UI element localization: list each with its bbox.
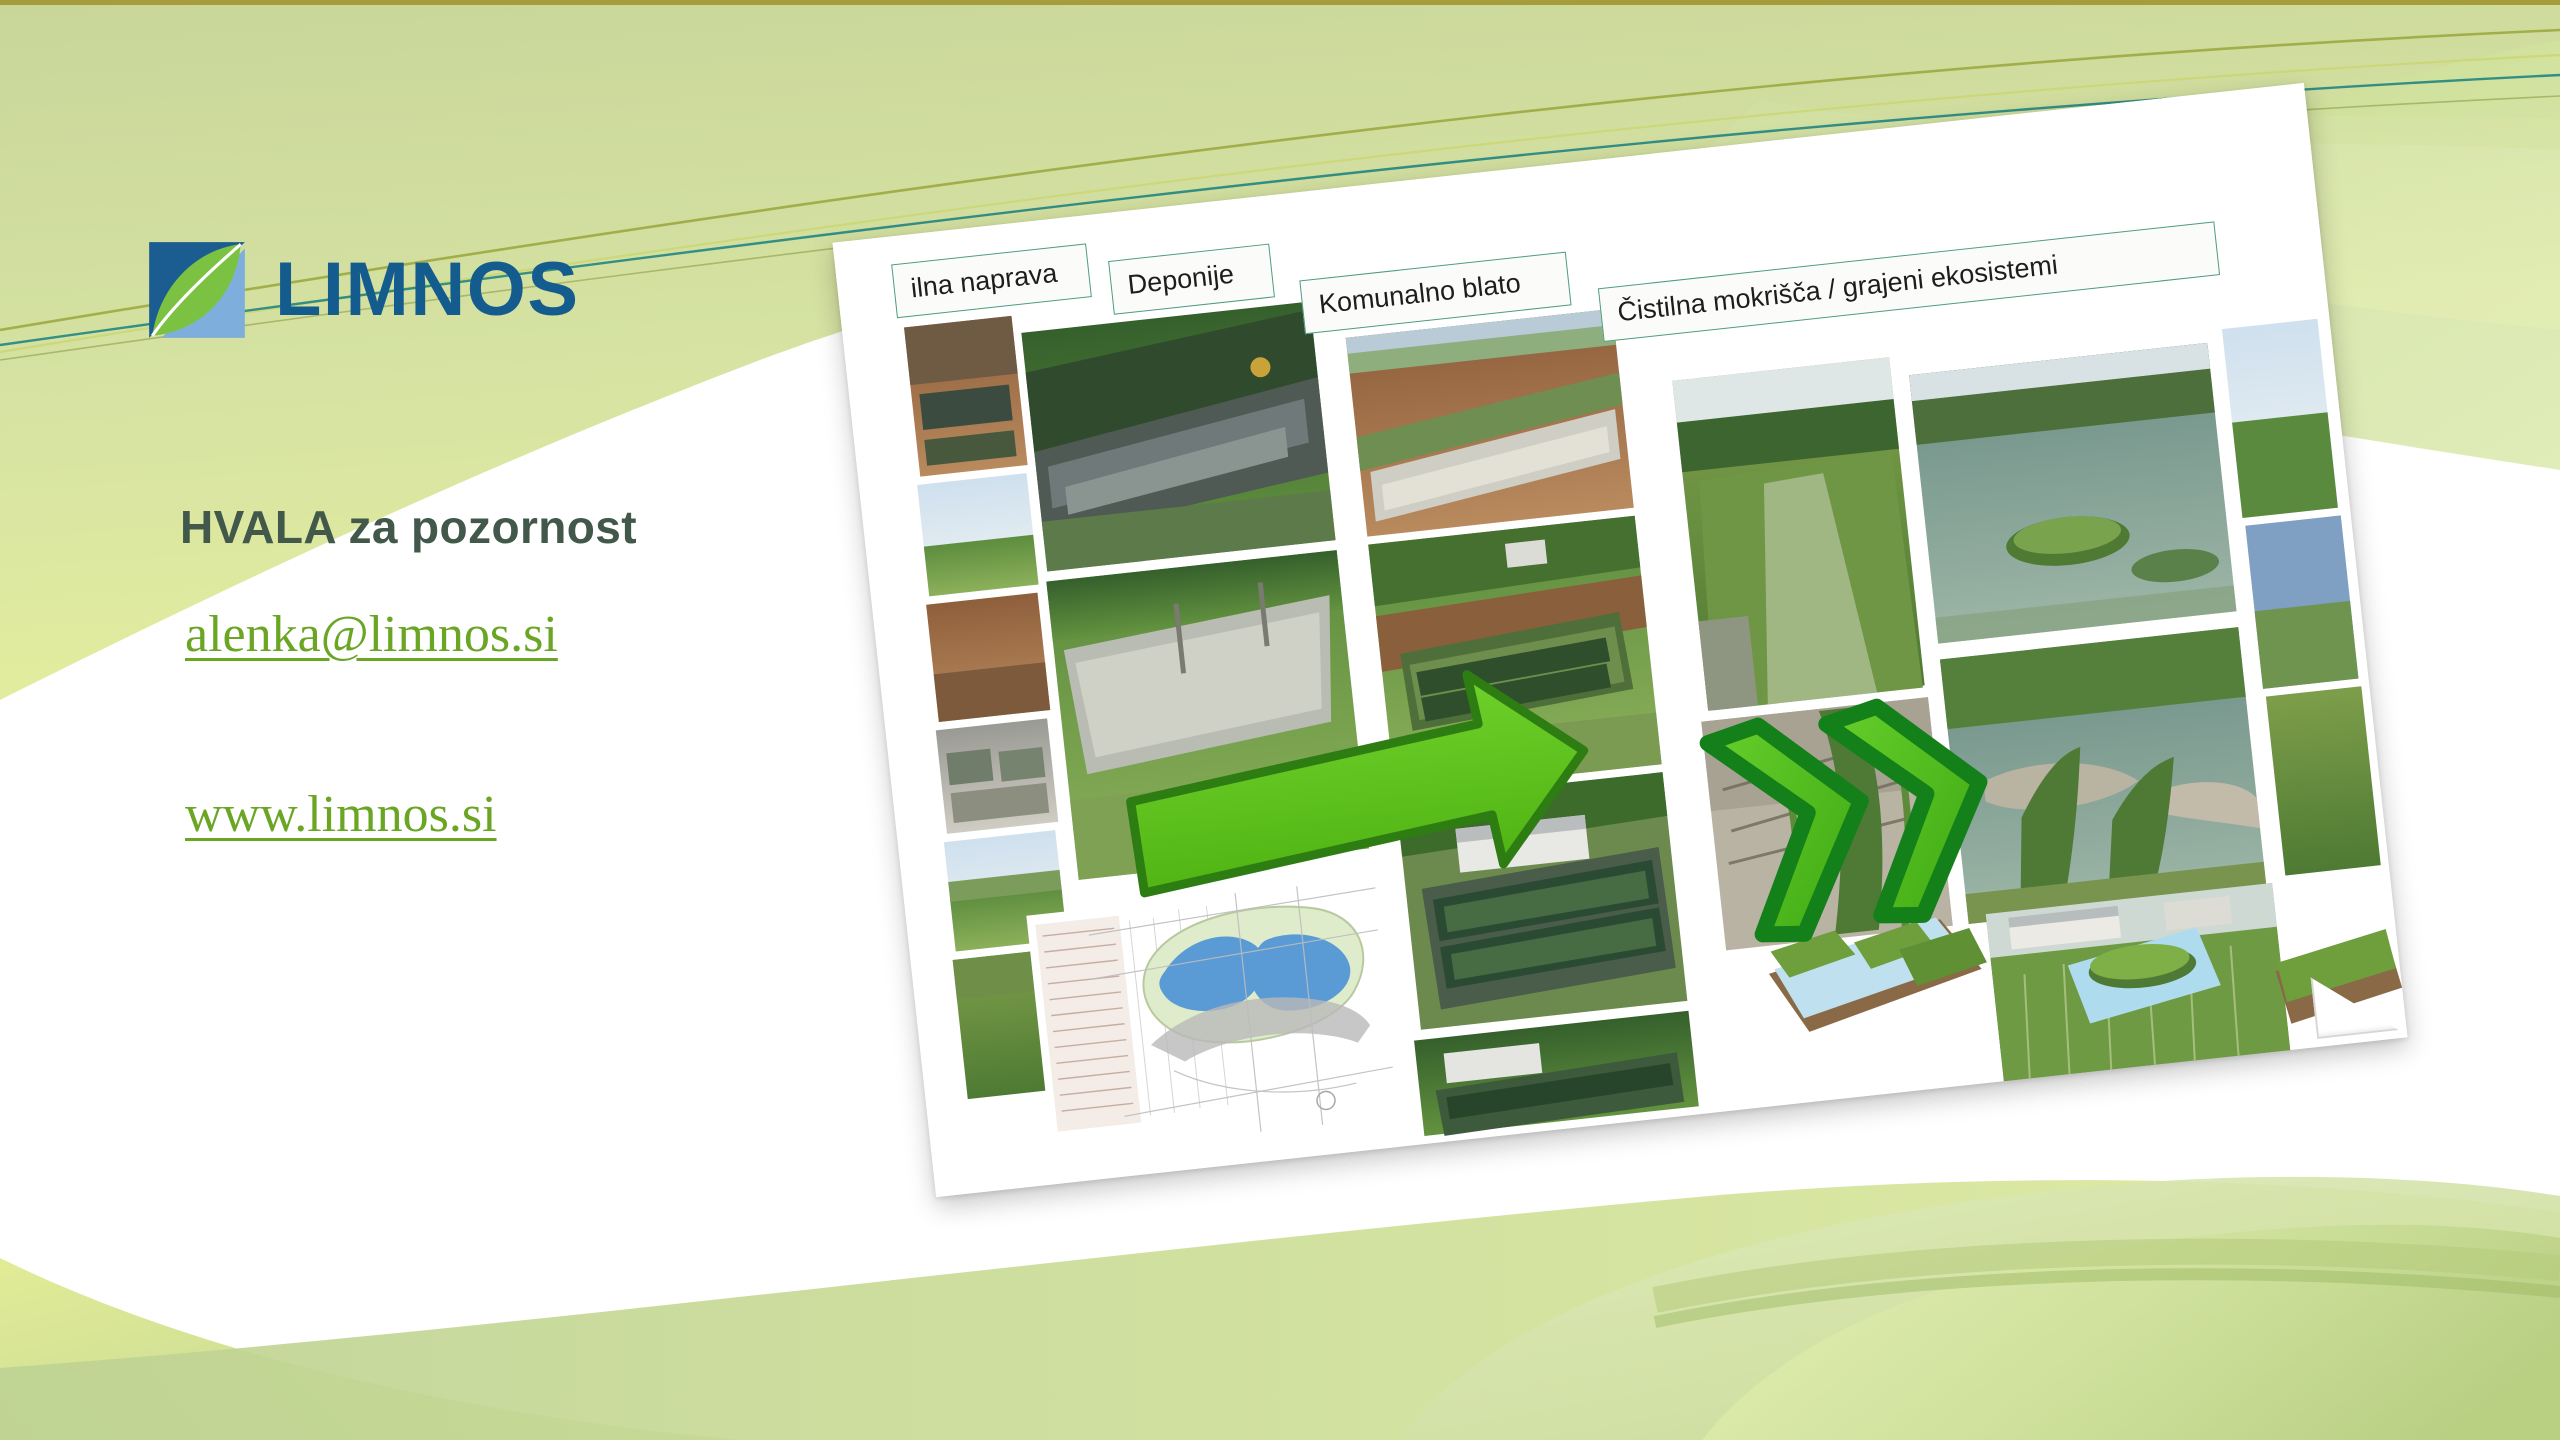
limnos-wordmark: LIMNOS (275, 252, 580, 328)
collage-card-stage: ilna naprava Deponije Komunalno blato Či… (820, 120, 2440, 1200)
website-link[interactable]: www.limnos.si (185, 785, 497, 844)
limnos-logo-mark (145, 238, 249, 342)
page-title: HVALA za pozornost (180, 500, 637, 554)
collage-card[interactable]: ilna naprava Deponije Komunalno blato Či… (832, 83, 2407, 1197)
limnos-logo: LIMNOS (145, 238, 580, 342)
email-link[interactable]: alenka@limnos.si (185, 605, 558, 664)
left-content-column: LIMNOS HVALA za pozornost alenka@limnos.… (0, 0, 900, 1440)
